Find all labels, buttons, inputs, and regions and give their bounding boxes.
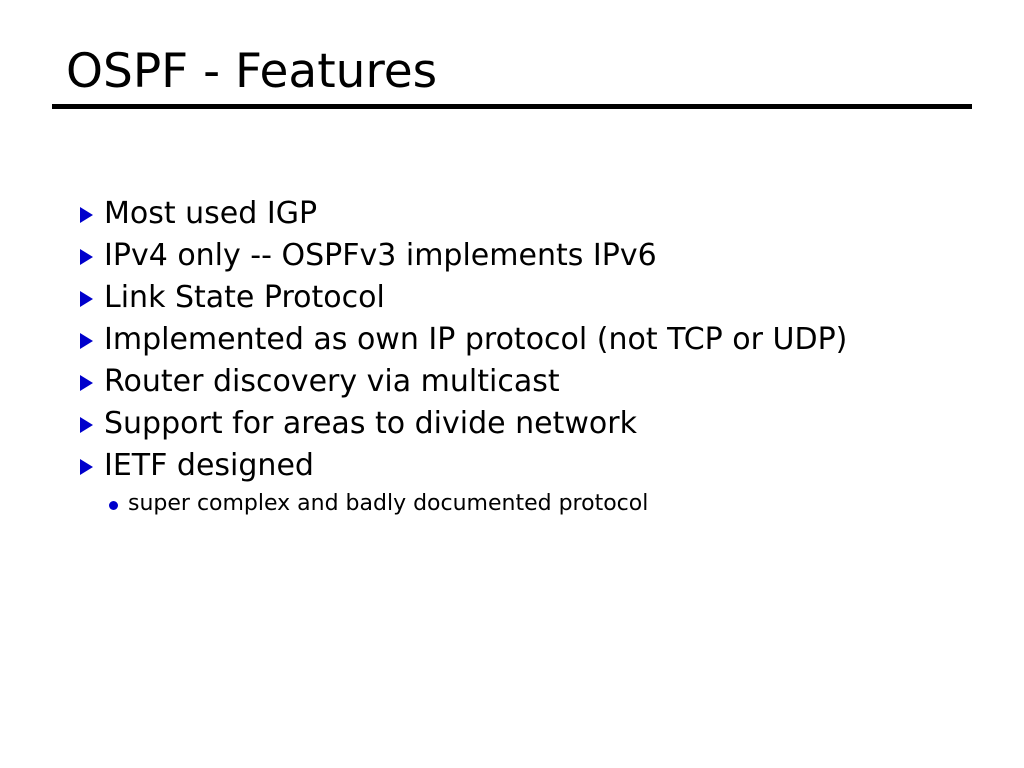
list-item-label: Link State Protocol	[104, 277, 385, 319]
page-title: OSPF - Features	[52, 44, 972, 100]
triangle-bullet-icon	[78, 235, 104, 277]
list-item-label: Implemented as own IP protocol (not TCP …	[104, 319, 847, 361]
triangle-bullet-icon	[78, 319, 104, 361]
title-block: OSPF - Features	[52, 44, 972, 109]
list-item-label: Router discovery via multicast	[104, 361, 560, 403]
triangle-bullet-icon	[78, 361, 104, 403]
list-item: Most used IGP	[78, 193, 978, 235]
sub-list-item-label: super complex and badly documented proto…	[128, 487, 648, 521]
list-item-label: IETF designed	[104, 445, 314, 487]
triangle-bullet-icon	[78, 403, 104, 445]
slide-canvas: OSPF - Features Most used IGP IPv4 only …	[0, 0, 1024, 768]
sub-list-item: super complex and badly documented proto…	[106, 487, 978, 521]
triangle-bullet-icon	[78, 445, 104, 487]
list-item: Support for areas to divide network	[78, 403, 978, 445]
list-item: Implemented as own IP protocol (not TCP …	[78, 319, 978, 361]
triangle-bullet-icon	[78, 277, 104, 319]
list-item: IPv4 only -- OSPFv3 implements IPv6	[78, 235, 978, 277]
list-item-label: Most used IGP	[104, 193, 317, 235]
dot-bullet-icon	[106, 487, 128, 521]
list-item-label: Support for areas to divide network	[104, 403, 637, 445]
bullet-list: Most used IGP IPv4 only -- OSPFv3 implem…	[78, 193, 978, 521]
list-item-label: IPv4 only -- OSPFv3 implements IPv6	[104, 235, 657, 277]
list-item: IETF designed	[78, 445, 978, 487]
triangle-bullet-icon	[78, 193, 104, 235]
list-item: Router discovery via multicast	[78, 361, 978, 403]
title-underline-rule	[52, 104, 972, 109]
list-item: Link State Protocol	[78, 277, 978, 319]
